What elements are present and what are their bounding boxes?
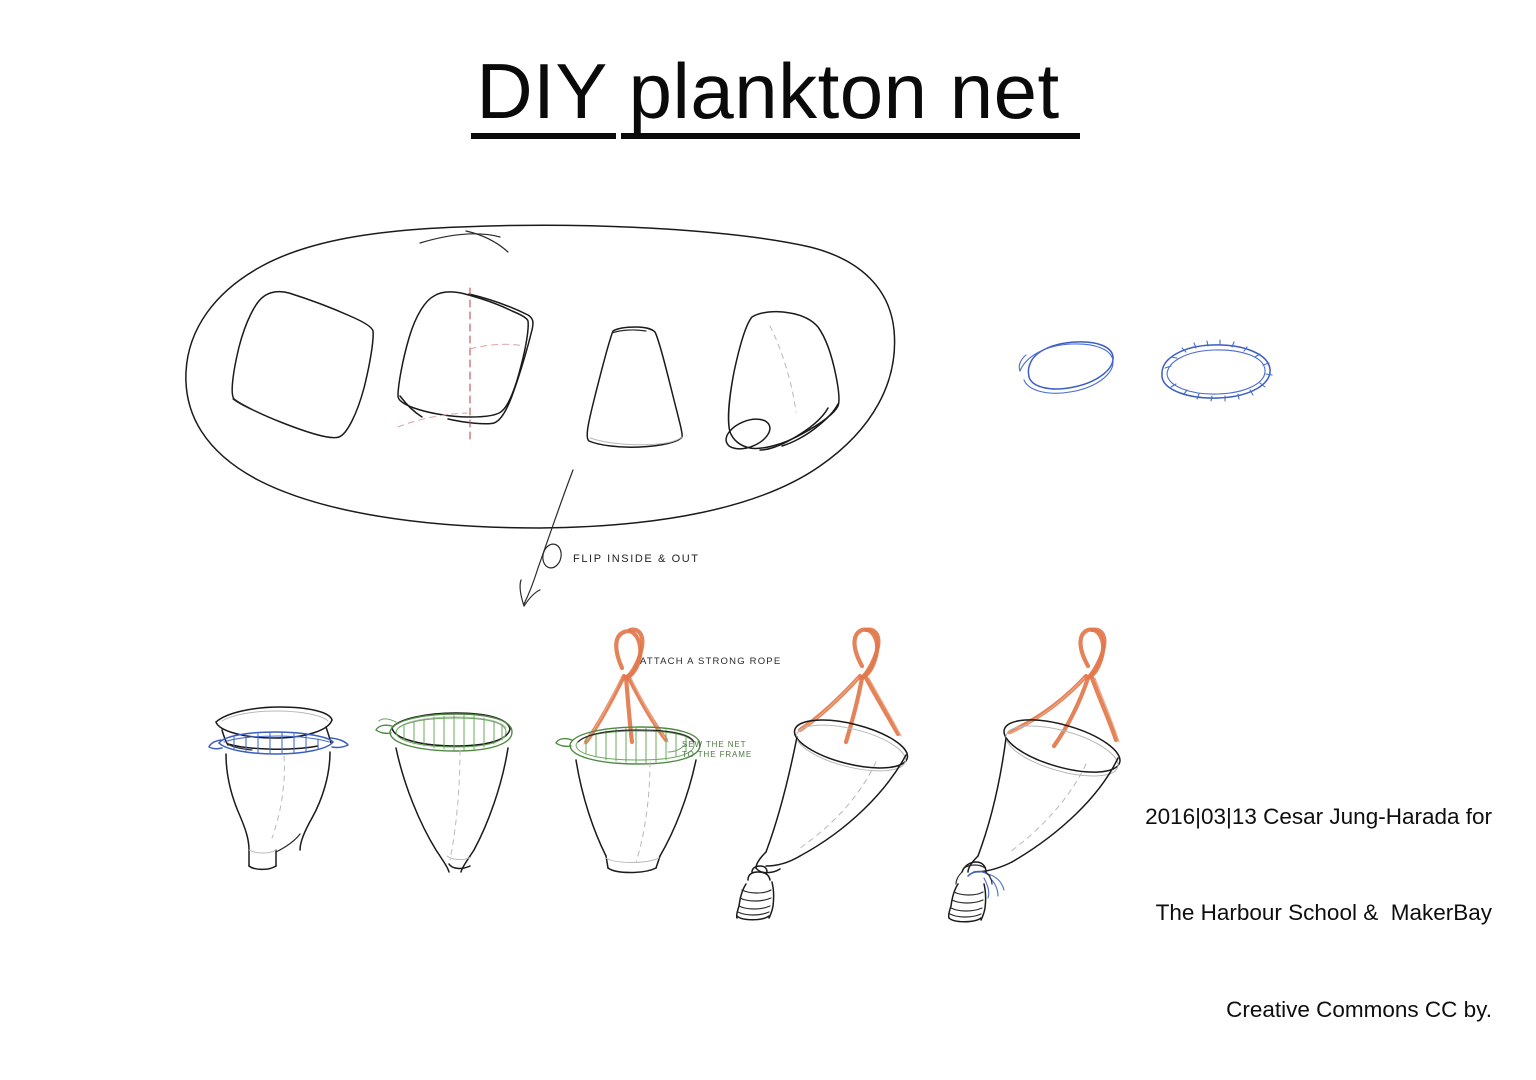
step-plain-ring: [1019, 342, 1113, 393]
credits-line-3: Creative Commons CC by.: [1145, 994, 1492, 1026]
step-cut-cone-panel: [587, 327, 682, 447]
step-cone-with-bridle: ATTACH A STRONG ROPE: [556, 630, 781, 873]
green-stitch-ring-2: [556, 727, 700, 764]
sew-net-text-line1: SEW THE NET: [682, 740, 746, 749]
credits-block: 2016|03|13 Cesar Jung-Harada for The Har…: [1145, 736, 1492, 1058]
step-net-with-bottle: [737, 630, 913, 920]
step-flat-fabric-panel: [232, 292, 373, 438]
bridle-rope-3: [1008, 630, 1119, 746]
step-cone-with-blue-ring: [209, 707, 348, 869]
attach-rope-text: ATTACH A STRONG ROPE: [640, 656, 781, 667]
collection-bottle: [737, 866, 774, 920]
step-folded-fabric-panel: [398, 288, 533, 442]
sew-net-text-line2: TO THE FRAME: [682, 750, 752, 759]
flip-inside-out-text: FLIP INSIDE & OUT: [573, 553, 700, 565]
fold-line-upper-curve: [470, 344, 525, 349]
bottle-tie: [956, 862, 1004, 898]
tape-hatching: [1165, 340, 1272, 401]
step-rolled-cone-tube: [722, 312, 839, 455]
flip-loop: [541, 542, 564, 569]
flip-inside-out-annotation: FLIP INSIDE & OUT: [520, 470, 700, 606]
credits-line-2: The Harbour School & MakerBay: [1145, 897, 1492, 929]
fabric-steps-group: [186, 225, 895, 528]
blue-ring-on-net: [209, 732, 348, 754]
ring-steps-group: [1019, 340, 1272, 401]
fabric-group-oval: [186, 225, 895, 528]
credits-line-1: 2016|03|13 Cesar Jung-Harada for: [1145, 801, 1492, 833]
step-taped-ring: [1162, 340, 1272, 401]
collection-bottle-2: [949, 884, 986, 922]
step-finished-plankton-net: [949, 630, 1126, 922]
green-stitch-ring: [376, 714, 512, 751]
flip-arrow: [524, 470, 573, 604]
step-cone-with-green-stitching: [376, 713, 512, 872]
